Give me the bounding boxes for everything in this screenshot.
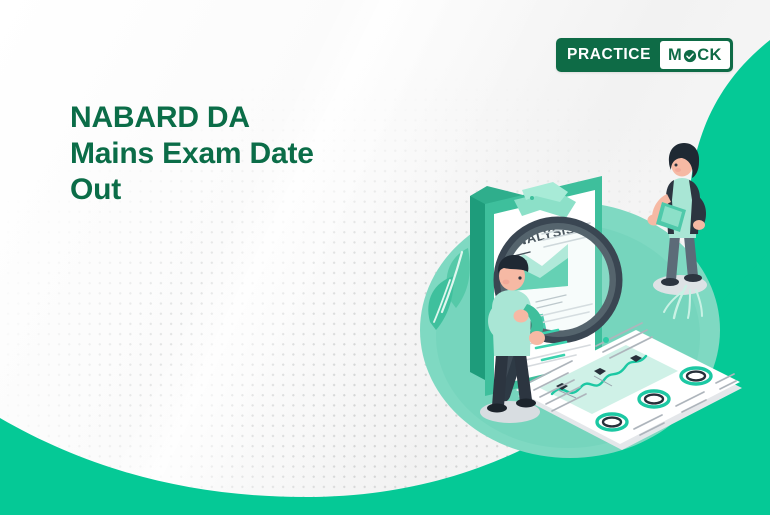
man-shoe-left [487, 404, 507, 413]
check-circle-icon [683, 49, 697, 63]
promo-banner: PRACTICE M CK NABARD DA Mains Exam Date … [0, 0, 770, 515]
brand-logo[interactable]: PRACTICE M CK [556, 38, 733, 72]
man-hand-right [529, 331, 545, 345]
man-cheek [503, 280, 510, 285]
woman-hand-right [693, 220, 705, 230]
logo-letters-ck: CK [697, 46, 722, 65]
woman-eye [675, 164, 678, 167]
woman-cheek [675, 168, 681, 172]
page-title: NABARD DA Mains Exam Date Out [70, 100, 400, 208]
headline-line-1: NABARD DA [70, 100, 400, 136]
logo-letter-m: M [668, 46, 682, 65]
report-bullet-dot [603, 337, 609, 343]
data-analysis-illustration: ANALYSIS [390, 140, 770, 470]
woman-shoe-right [684, 274, 702, 282]
headline-line-3: Out [70, 172, 400, 208]
woman-shoe-left [661, 278, 679, 286]
logo-word-mock: M CK [660, 41, 730, 69]
clipboard-clip-rivet [530, 196, 534, 200]
clipboard-left-edge [470, 196, 485, 380]
logo-word-practice: PRACTICE [559, 41, 660, 69]
man-hand-left [514, 310, 529, 323]
man-shoe-right [516, 399, 536, 408]
headline-line-2: Mains Exam Date [70, 136, 400, 172]
man-eye [518, 276, 521, 279]
